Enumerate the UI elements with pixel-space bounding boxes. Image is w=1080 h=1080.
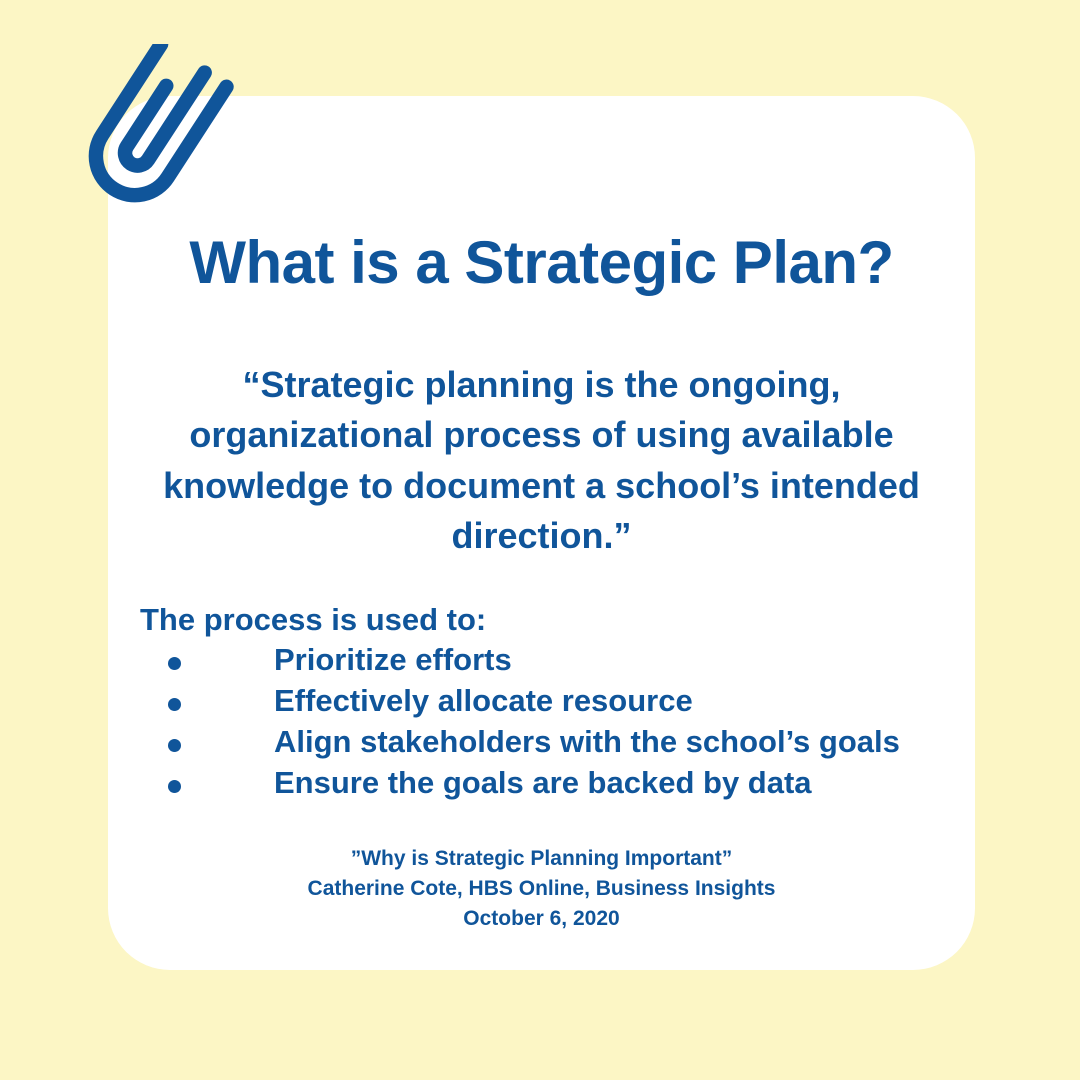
citation-title: ”Why is Strategic Planning Important”	[108, 844, 975, 874]
list-item: Effectively allocate resource	[140, 685, 940, 726]
bullet-dot-icon	[168, 739, 181, 752]
list-item: Ensure the goals are backed by data	[140, 767, 940, 808]
list-item-label: Ensure the goals are backed by data	[274, 767, 812, 798]
list-item-label: Prioritize efforts	[274, 644, 512, 675]
citation-author: Catherine Cote, HBS Online, Business Ins…	[108, 874, 975, 904]
list-item-label: Effectively allocate resource	[274, 685, 693, 716]
bullet-dot-icon	[168, 780, 181, 793]
citation-date: October 6, 2020	[108, 904, 975, 934]
list-item-label: Align stakeholders with the school’s goa…	[274, 726, 900, 757]
slide-canvas: What is a Strategic Plan? “Strategic pla…	[0, 0, 1080, 1080]
page-title: What is a Strategic Plan?	[108, 231, 975, 294]
bullet-dot-icon	[168, 657, 181, 670]
bullet-dot-icon	[168, 698, 181, 711]
citation: ”Why is Strategic Planning Important” Ca…	[108, 844, 975, 933]
list-item: Align stakeholders with the school’s goa…	[140, 726, 940, 767]
quote-text: “Strategic planning is the ongoing, orga…	[163, 360, 920, 562]
lead-in-text: The process is used to:	[140, 601, 486, 638]
process-bullet-list: Prioritize efforts Effectively allocate …	[140, 644, 940, 808]
card-content: What is a Strategic Plan? “Strategic pla…	[108, 96, 975, 970]
list-item: Prioritize efforts	[140, 644, 940, 685]
